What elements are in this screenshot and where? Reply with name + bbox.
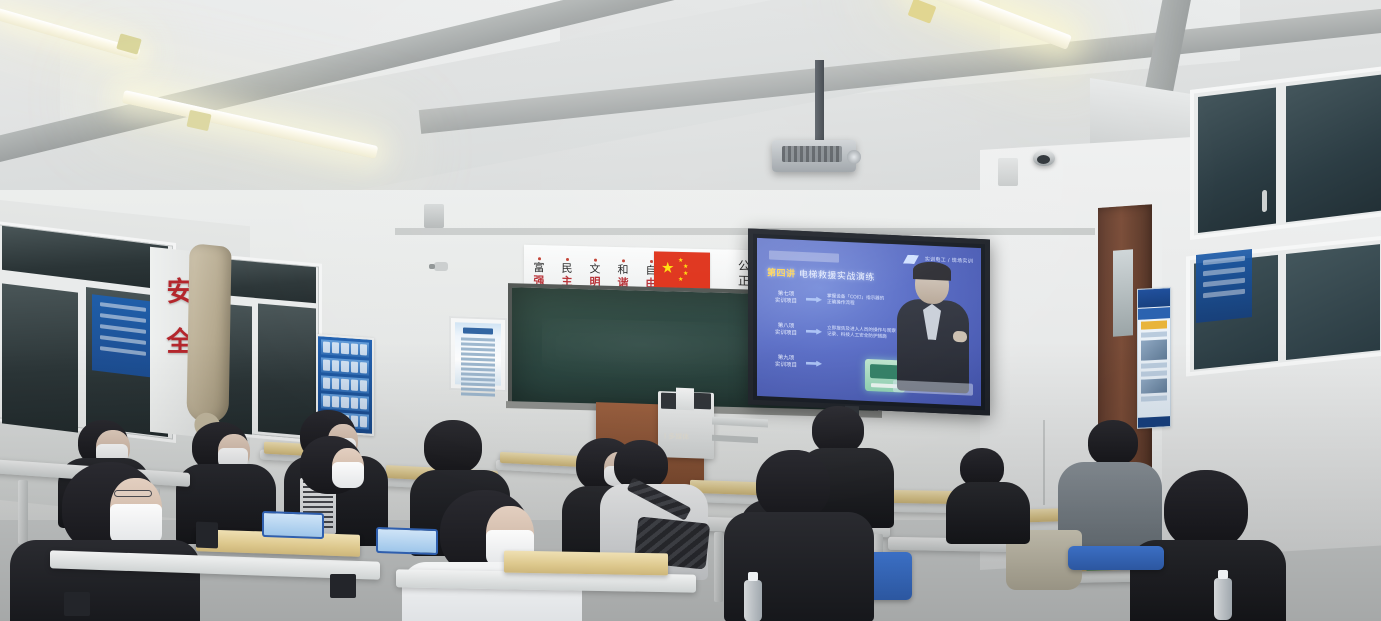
slide-presenter-figure (895, 262, 971, 393)
slide-row: 第八项 实训项目 立即报告及进入人员的操作与观察 记录、科技人工安全防护措施 (771, 323, 911, 343)
fire-blanket-bag (186, 243, 231, 425)
lectern-brand-mark: I 多媒体 (664, 431, 698, 440)
blue-poster-reflection (92, 294, 154, 378)
projection-screen[interactable]: 实训电工 / 现场实训 第四讲 电梯救援实战演练 第七项 实训项目 掌握设备「C… (748, 229, 990, 416)
presentation-slide: 实训电工 / 现场实训 第四讲 电梯救援实战演练 第七项 实训项目 掌握设备「C… (757, 238, 981, 406)
china-flag: ★ ★ ★ ★ ★ (654, 251, 710, 288)
slide-row-label: 第八项 实训项目 (771, 323, 801, 338)
desk-leg (714, 532, 723, 602)
desk-top (504, 551, 668, 576)
door-window-pane (1113, 249, 1133, 336)
wall-ledge (395, 228, 1095, 235)
classroom-photo: 安 全 富 强 民 主 文 明 (0, 0, 1381, 621)
chair-back (1068, 546, 1164, 570)
flag-star-small: ★ (683, 264, 688, 270)
window-right-upper (1190, 66, 1381, 240)
flag-star-small: ★ (678, 277, 683, 283)
slide-row: 第七项 实训项目 掌握设备「CO灯」指示器的 正确操作流程 (771, 291, 911, 311)
water-bottle (744, 580, 762, 621)
blue-folder (262, 511, 324, 539)
slide-row-desc: 掌握设备「CO灯」指示器的 正确操作流程 (827, 294, 884, 309)
wall-conduit (1043, 420, 1045, 505)
arrow-right-icon (806, 360, 822, 367)
projector-lens-icon (847, 150, 861, 164)
window-handle[interactable] (1262, 190, 1267, 213)
slide-title-main: 电梯救援实战演练 (799, 270, 875, 283)
slide-row-label: 第七项 实训项目 (771, 291, 801, 306)
arrow-right-icon (806, 328, 822, 335)
pencil-case (196, 522, 218, 549)
arrow-right-icon (806, 296, 822, 303)
flag-star-large: ★ (661, 260, 674, 275)
flag-star-small: ★ (683, 271, 688, 277)
ceiling-projector (772, 140, 856, 172)
desk-hook (64, 592, 90, 616)
safety-information-poster (1137, 287, 1171, 429)
lectern-paper (676, 388, 694, 411)
slide-row-desc: 立即报告及进入人员的操作与观察 记录、科技人工安全防护措施 (827, 326, 896, 341)
slide-title-prefix: 第四讲 (767, 268, 796, 279)
wall-camera-icon (434, 262, 448, 271)
ceiling-speaker (424, 204, 444, 228)
slide-title: 第四讲 电梯救援实战演练 (767, 265, 875, 283)
projector-mount-pole (815, 60, 824, 148)
slide-tag-bar (769, 250, 839, 262)
security-dome-camera-icon (1033, 150, 1055, 166)
desk-hook (330, 574, 356, 598)
window-pane (2, 283, 78, 432)
blue-folder (376, 527, 438, 555)
window-poster-right (1196, 249, 1252, 323)
classroom-rules-poster (449, 316, 507, 392)
water-bottle (1214, 578, 1232, 620)
desk-leg (18, 480, 28, 544)
wall-junction-box (998, 158, 1018, 186)
slide-row-label: 第九项 实训项目 (771, 355, 801, 370)
